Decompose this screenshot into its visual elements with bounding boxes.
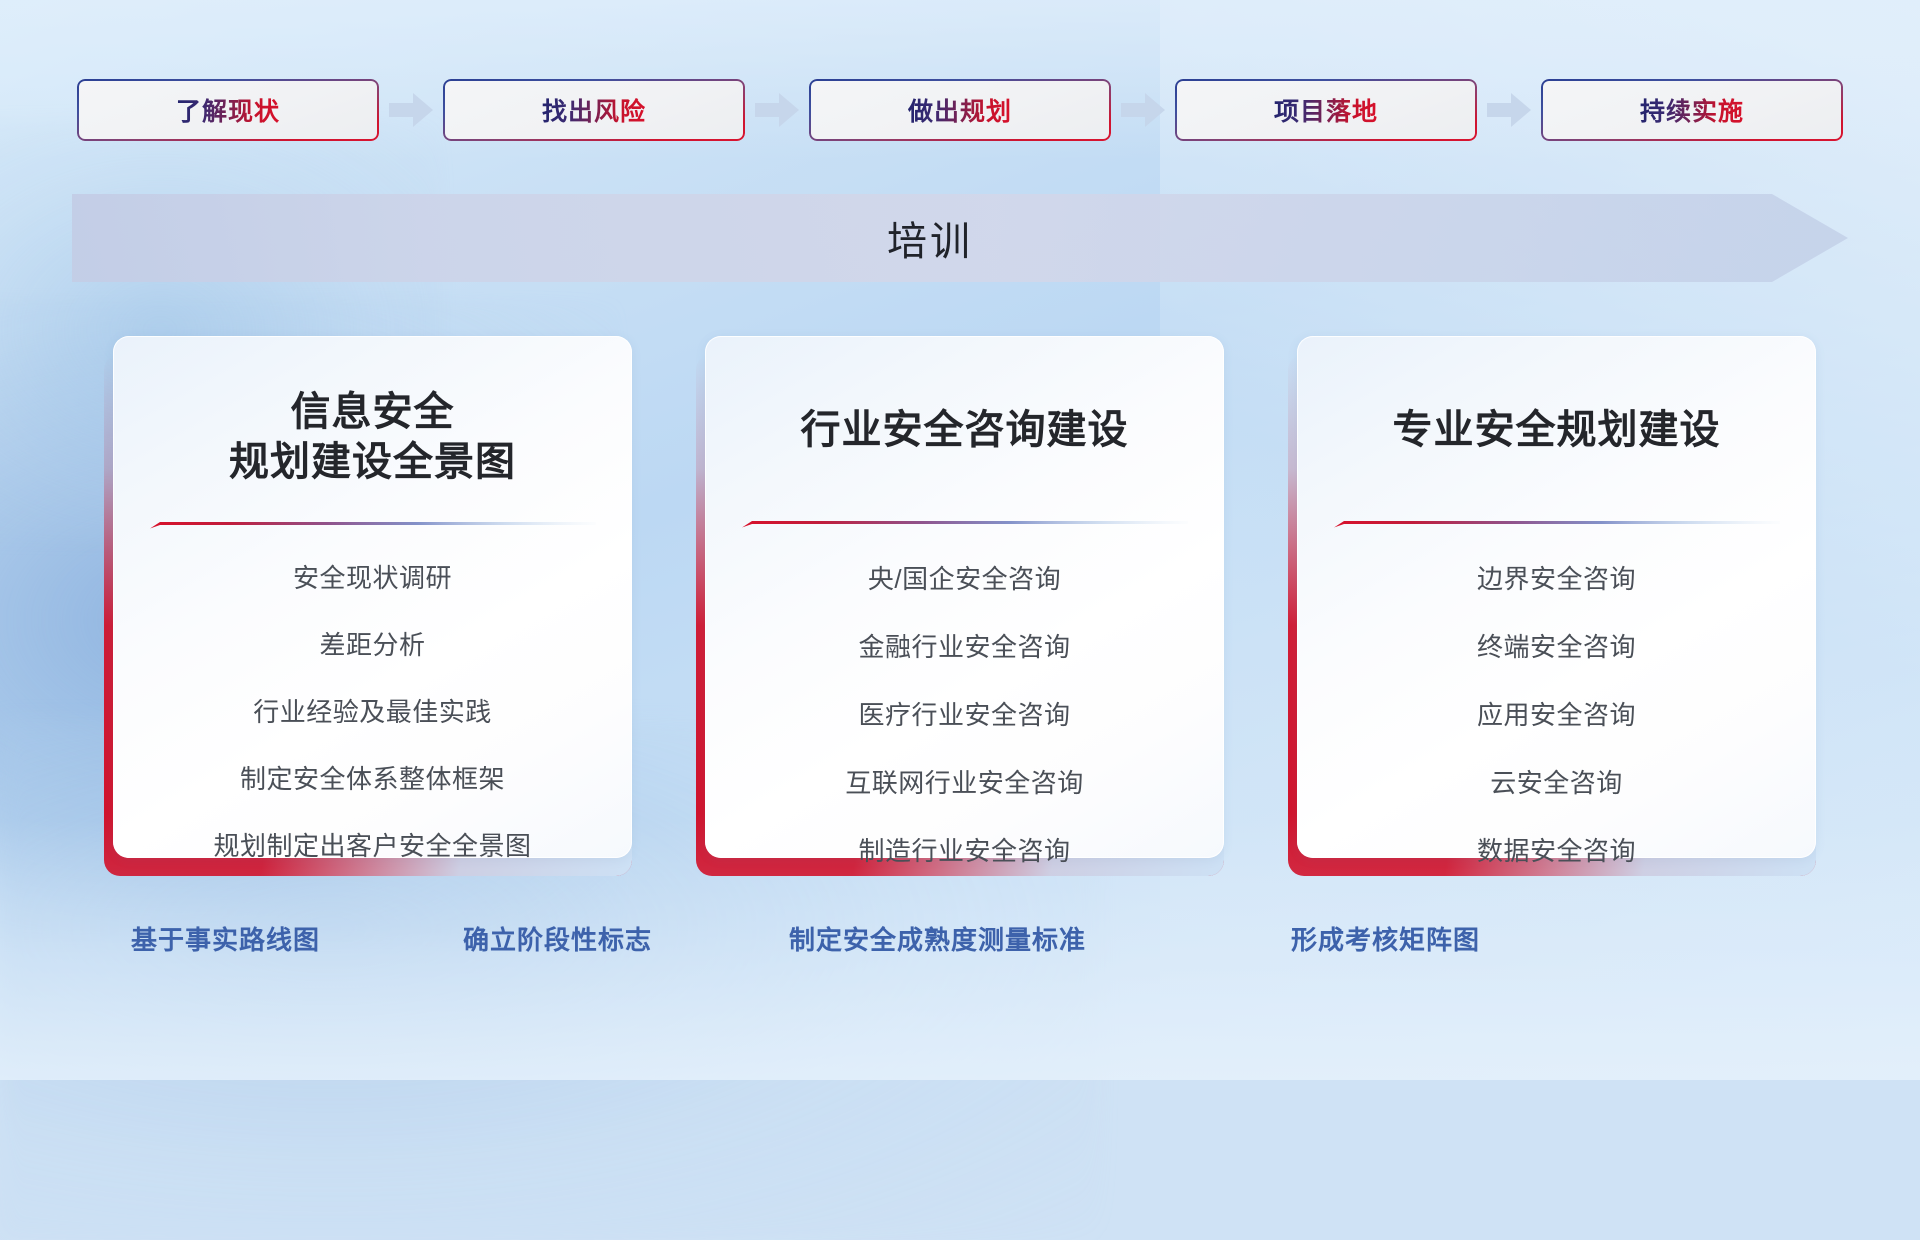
process-step-flow: 了解现状找出风险做出规划项目落地持续实施	[0, 79, 1920, 141]
list-item[interactable]: 互联网行业安全咨询	[845, 770, 1084, 796]
step-box-3[interactable]: 做出规划	[809, 79, 1111, 141]
list-item[interactable]: 差距分析	[319, 632, 425, 658]
card-body: 信息安全规划建设全景图安全现状调研差距分析行业经验及最佳实践制定安全体系整体框架…	[113, 336, 632, 858]
card-divider-wrap	[143, 519, 602, 531]
caption-3: 制定安全成熟度测量标准	[789, 920, 1086, 957]
card-divider	[1334, 518, 1780, 530]
step-label: 项目落地	[1274, 92, 1378, 128]
card-item-list: 边界安全咨询终端安全咨询应用安全咨询云安全咨询数据安全咨询	[1327, 566, 1786, 864]
arrow-right-icon	[379, 79, 443, 141]
banner-title: 培训	[72, 194, 1848, 282]
arrow-right-icon	[745, 79, 809, 141]
list-item[interactable]: 数据安全咨询	[1477, 838, 1636, 864]
step-box-1[interactable]: 了解现状	[77, 79, 379, 141]
list-item[interactable]: 安全现状调研	[293, 565, 452, 591]
step-box-2[interactable]: 找出风险	[443, 79, 745, 141]
step-label: 了解现状	[176, 92, 280, 128]
caption-2: 确立阶段性标志	[463, 920, 652, 957]
service-card-2[interactable]: 行业安全咨询建设央/国企安全咨询金融行业安全咨询医疗行业安全咨询互联网行业安全咨…	[696, 336, 1224, 876]
step-box-4[interactable]: 项目落地	[1175, 79, 1477, 141]
card-title-line: 信息安全	[291, 388, 455, 438]
list-item[interactable]: 云安全咨询	[1490, 770, 1623, 796]
service-card-1[interactable]: 信息安全规划建设全景图安全现状调研差距分析行业经验及最佳实践制定安全体系整体框架…	[104, 336, 632, 876]
step-label: 找出风险	[542, 92, 646, 128]
service-card-3[interactable]: 专业安全规划建设边界安全咨询终端安全咨询应用安全咨询云安全咨询数据安全咨询	[1288, 336, 1816, 876]
caption-4: 形成考核矩阵图	[1291, 920, 1480, 957]
card-item-list: 安全现状调研差距分析行业经验及最佳实践制定安全体系整体框架规划制定出客户安全全景…	[143, 565, 602, 859]
list-item[interactable]: 制造行业安全咨询	[858, 838, 1070, 864]
card-item-list: 央/国企安全咨询金融行业安全咨询医疗行业安全咨询互联网行业安全咨询制造行业安全咨…	[735, 566, 1194, 864]
list-item[interactable]: 金融行业安全咨询	[858, 634, 1070, 660]
list-item[interactable]: 边界安全咨询	[1477, 566, 1636, 592]
list-item[interactable]: 制定安全体系整体框架	[240, 766, 505, 792]
list-item[interactable]: 医疗行业安全咨询	[858, 702, 1070, 728]
step-box-5[interactable]: 持续实施	[1541, 79, 1843, 141]
card-title: 行业安全咨询建设	[801, 406, 1129, 456]
step-label: 持续实施	[1640, 92, 1744, 128]
arrow-right-icon	[1477, 79, 1541, 141]
card-title-line: 行业安全咨询建设	[801, 406, 1129, 456]
card-divider-wrap	[1327, 518, 1786, 530]
list-item[interactable]: 应用安全咨询	[1477, 702, 1636, 728]
service-card-group: 信息安全规划建设全景图安全现状调研差距分析行业经验及最佳实践制定安全体系整体框架…	[0, 336, 1920, 876]
caption-row: 基于事实路线图确立阶段性标志制定安全成熟度测量标准形成考核矩阵图	[0, 920, 1920, 964]
card-body: 行业安全咨询建设央/国企安全咨询金融行业安全咨询医疗行业安全咨询互联网行业安全咨…	[705, 336, 1224, 858]
caption-1: 基于事实路线图	[131, 920, 320, 957]
card-divider	[742, 518, 1188, 530]
list-item[interactable]: 行业经验及最佳实践	[253, 699, 492, 725]
list-item[interactable]: 央/国企安全咨询	[868, 566, 1061, 592]
card-title: 信息安全规划建设全景图	[229, 388, 516, 487]
list-item[interactable]: 终端安全咨询	[1477, 634, 1636, 660]
training-banner: 培训	[72, 194, 1848, 282]
card-divider	[150, 519, 596, 531]
step-label: 做出规划	[908, 92, 1012, 128]
card-divider-wrap	[735, 518, 1194, 530]
arrow-right-icon	[1111, 79, 1175, 141]
card-title: 专业安全规划建设	[1393, 406, 1721, 456]
list-item[interactable]: 规划制定出客户安全全景图	[213, 833, 531, 859]
card-title-line: 专业安全规划建设	[1393, 406, 1721, 456]
card-title-line: 规划建设全景图	[229, 438, 516, 488]
card-body: 专业安全规划建设边界安全咨询终端安全咨询应用安全咨询云安全咨询数据安全咨询	[1297, 336, 1816, 858]
